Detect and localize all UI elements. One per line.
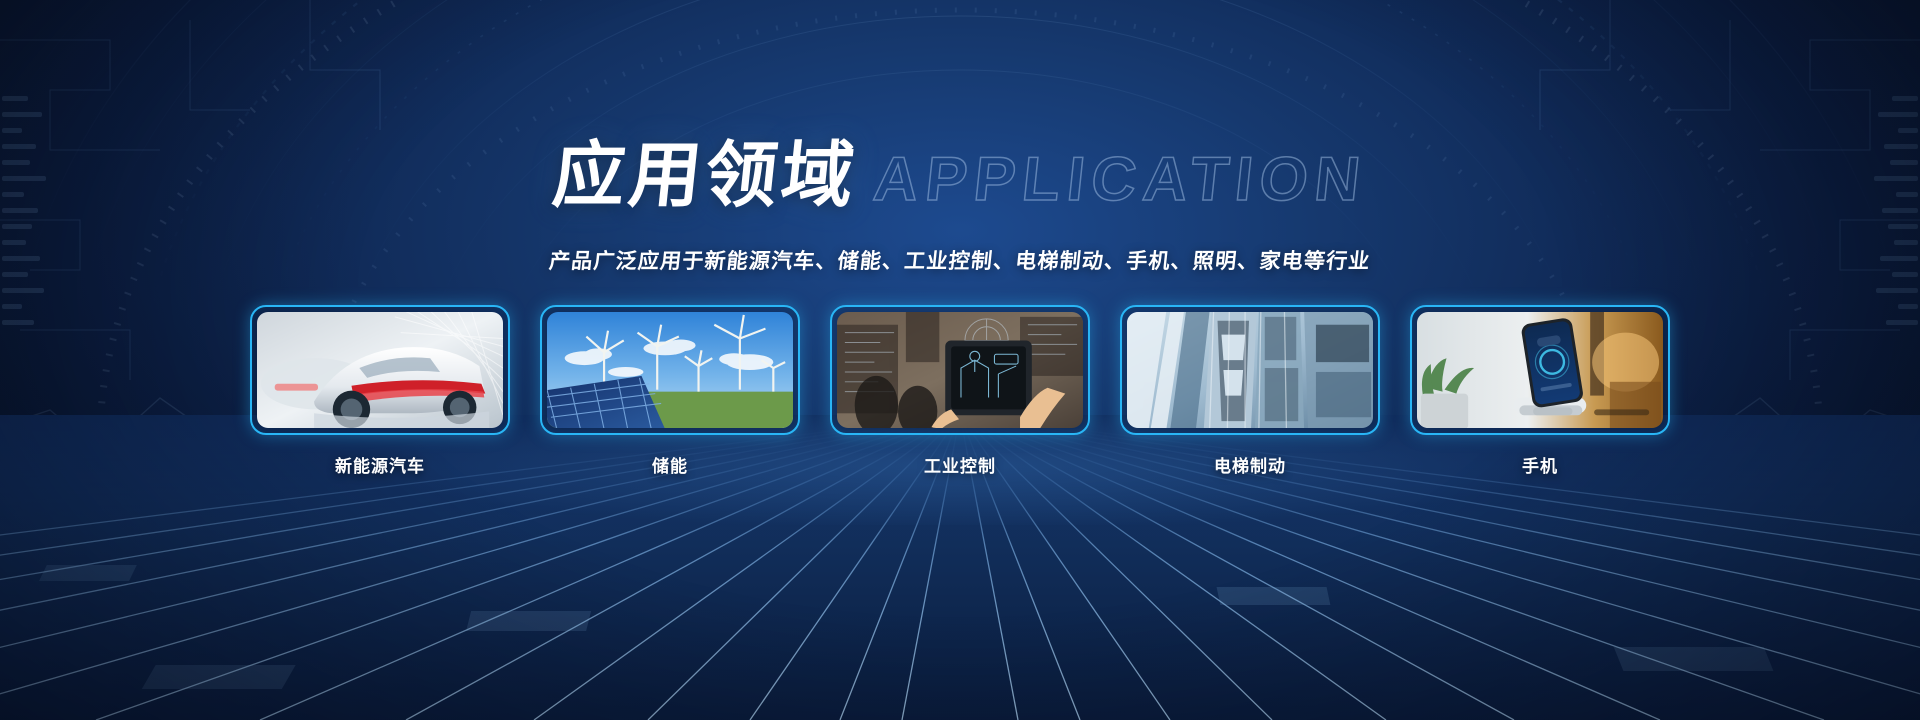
card-frame[interactable] <box>1410 305 1670 435</box>
card-label: 工业控制 <box>924 452 996 477</box>
industrial-control-icon <box>837 312 1083 428</box>
banner-header: 应用领域 APPLICATION 产品广泛应用于新能源汽车、储能、工业控制、电梯… <box>0 116 1920 275</box>
application-banner: 应用领域 APPLICATION 产品广泛应用于新能源汽车、储能、工业控制、电梯… <box>0 0 1920 720</box>
card-label: 手机 <box>1522 452 1558 477</box>
elevator-icon <box>1127 312 1373 428</box>
card-frame[interactable] <box>540 305 800 435</box>
card-label: 新能源汽车 <box>335 452 425 477</box>
wind-solar-icon <box>547 312 793 428</box>
application-card-list: 新能源汽车 <box>0 305 1920 477</box>
title-row: 应用领域 APPLICATION <box>0 116 1920 221</box>
application-card[interactable]: 工业控制 <box>830 305 1090 477</box>
card-frame[interactable] <box>250 305 510 435</box>
page-title: 应用领域 <box>548 116 863 221</box>
page-subtitle: 产品广泛应用于新能源汽车、储能、工业控制、电梯制动、手机、照明、家电等行业 <box>0 245 1920 275</box>
card-frame[interactable] <box>830 305 1090 435</box>
electric-car-icon <box>257 312 503 428</box>
application-card[interactable]: 电梯制动 <box>1120 305 1380 477</box>
card-frame[interactable] <box>1120 305 1380 435</box>
application-card[interactable]: 储能 <box>540 305 800 477</box>
application-card[interactable]: 手机 <box>1410 305 1670 477</box>
application-card[interactable]: 新能源汽车 <box>250 305 510 477</box>
page-title-english: APPLICATION <box>870 144 1370 215</box>
smartphone-icon <box>1417 312 1663 428</box>
card-label: 储能 <box>652 452 688 477</box>
card-label: 电梯制动 <box>1214 452 1286 477</box>
